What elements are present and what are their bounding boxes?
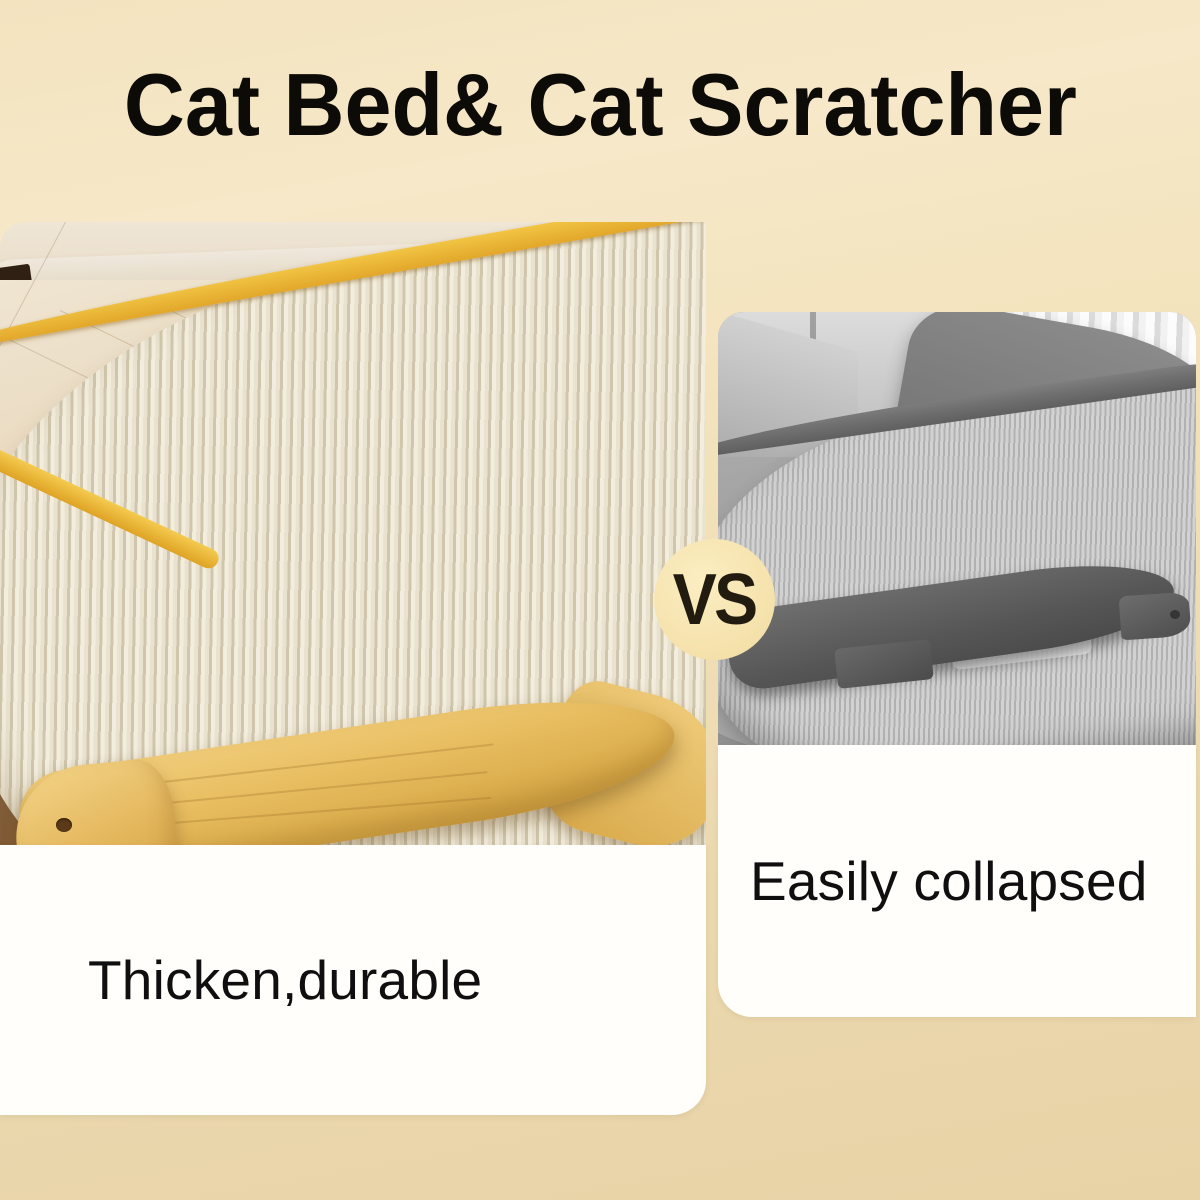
- left-product-photo: [0, 222, 706, 847]
- screw-hole-icon: [56, 818, 72, 832]
- right-caption-text: Easily collapsed: [750, 849, 1148, 913]
- wood-base-head: [9, 756, 183, 847]
- right-photo-scene: [718, 312, 1196, 747]
- screw-hole-icon: [1170, 610, 1180, 619]
- versus-label: VS: [673, 564, 756, 636]
- left-photo-scene: [0, 222, 706, 847]
- page-header: Cat Bed& Cat Scratcher: [0, 0, 1200, 210]
- wooden-curved-base: [10, 652, 700, 847]
- wood-grain-line: [152, 797, 491, 826]
- left-caption-text: Thicken,durable: [88, 948, 482, 1012]
- page-title: Cat Bed& Cat Scratcher: [123, 61, 1076, 149]
- right-product-photo: [718, 312, 1196, 747]
- right-caption-card: Easily collapsed: [718, 745, 1196, 1017]
- left-caption-card: Thicken,durable: [0, 845, 706, 1115]
- versus-badge: VS: [654, 539, 775, 660]
